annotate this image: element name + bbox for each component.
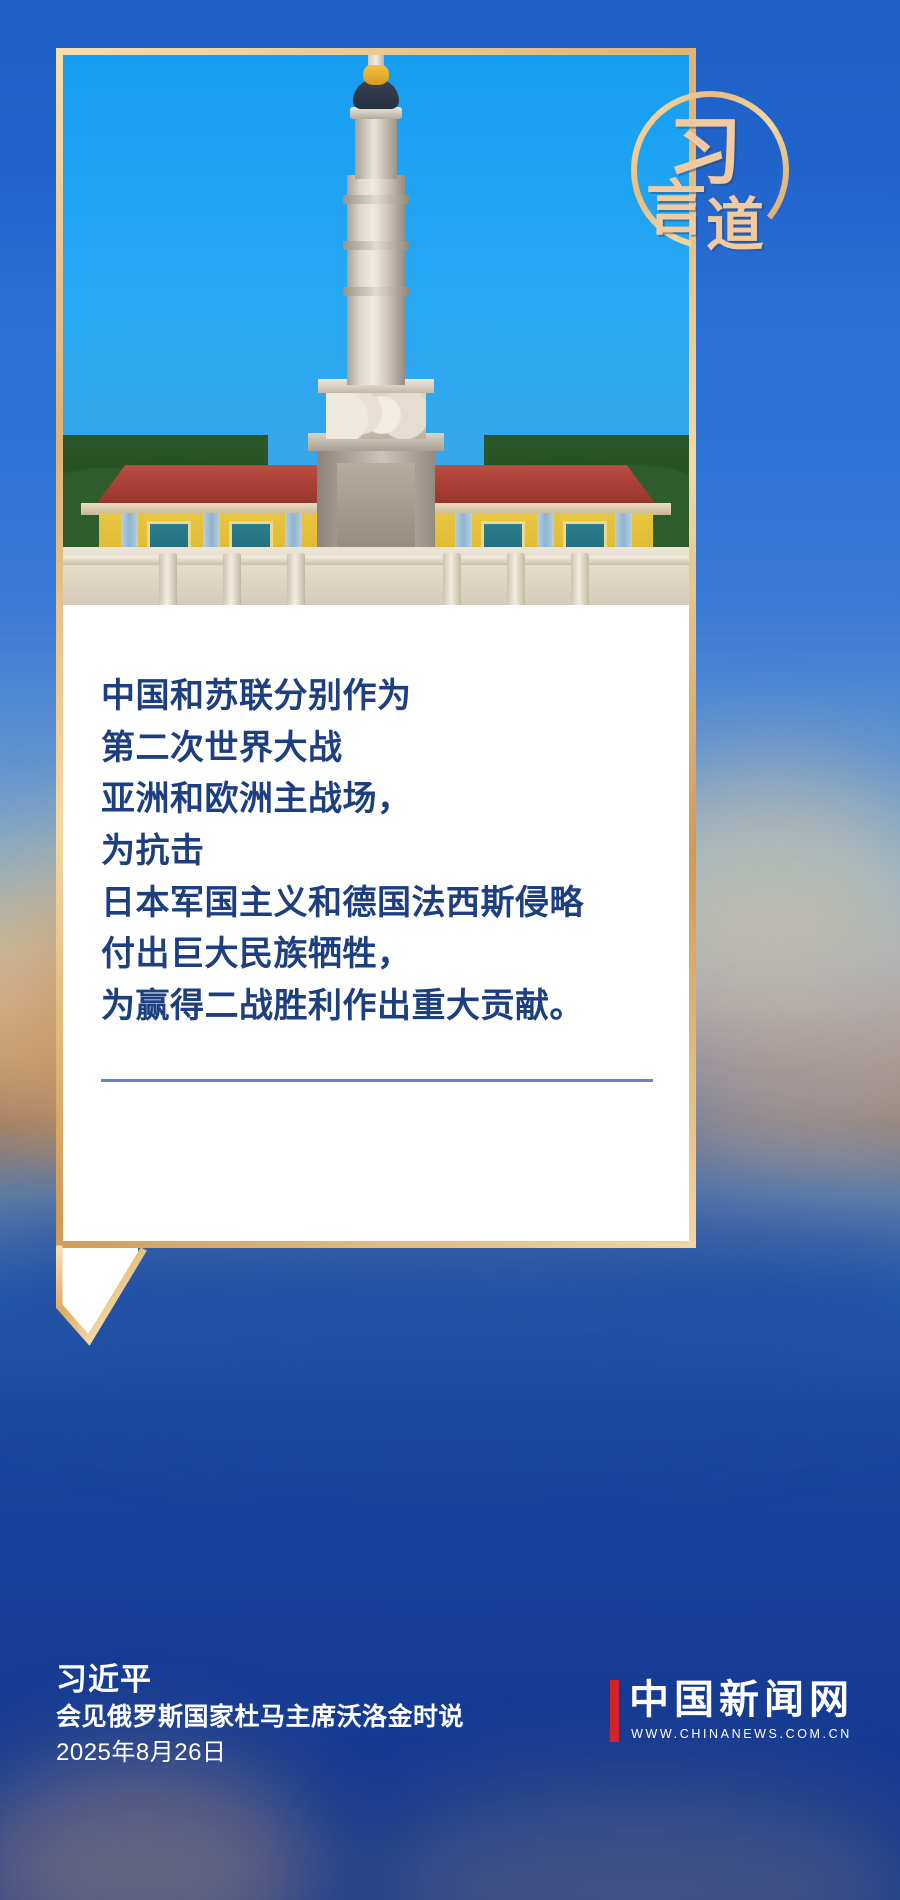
photo-flag-pole: [368, 55, 384, 65]
speech-bubble-tail-outline: [56, 1244, 166, 1350]
seal-char-dao: 道: [706, 178, 764, 262]
quote-line: 中国和苏联分别作为: [101, 671, 655, 723]
quote-text-block: 中国和苏联分别作为 第二次世界大战 亚洲和欧洲主战场， 为抗击 日本军国主义和德…: [63, 605, 689, 1241]
quote-line: 付出巨大民族牺牲，: [101, 929, 655, 981]
photo-monument-shaft: [347, 175, 405, 385]
quote-line: 为赢得二战胜利作出重大贡献。: [101, 981, 655, 1033]
seal-char-yan: 言: [646, 160, 706, 247]
photo-shaft-band: [343, 195, 409, 204]
xi-yan-dao-seal-logo: 习 言 道: [624, 82, 796, 258]
card-inner: 中国和苏联分别作为 第二次世界大战 亚洲和欧洲主战场， 为抗击 日本军国主义和德…: [63, 55, 689, 1241]
background-blur-shape: [0, 1760, 320, 1900]
chinanews-red-mark-icon: [610, 1680, 619, 1742]
photo-balustrade-post: [507, 553, 525, 605]
photo-monument-upper-shaft: [355, 115, 397, 179]
quote-card: 中国和苏联分别作为 第二次世界大战 亚洲和欧洲主战场， 为抗击 日本军国主义和德…: [56, 48, 696, 1248]
quote-line: 为抗击: [101, 826, 655, 878]
monument-photo: [63, 55, 689, 605]
photo-balustrade-post: [287, 553, 305, 605]
quote-line: 日本军国主义和德国法西斯侵略: [101, 878, 655, 930]
poster-root: 中国和苏联分别作为 第二次世界大战 亚洲和欧洲主战场， 为抗击 日本军国主义和德…: [0, 0, 900, 1900]
chinanews-logo: 中国新闻网 WWW.CHINANEWS.COM.CN: [610, 1678, 854, 1742]
background-blur-shape: [360, 1790, 900, 1900]
quote-divider: [101, 1079, 653, 1082]
publisher-name: 中国新闻网: [629, 1678, 854, 1723]
photo-shaft-band: [343, 241, 409, 250]
photo-monument-figures: [326, 391, 426, 439]
quote-line: 亚洲和欧洲主战场，: [101, 774, 655, 826]
photo-shaft-band: [343, 287, 409, 296]
photo-balustrade-post: [159, 553, 177, 605]
photo-balustrade-post: [443, 553, 461, 605]
photo-balustrade-rail: [63, 556, 689, 565]
publisher-url: WWW.CHINANEWS.COM.CN: [631, 1727, 852, 1741]
photo-balustrade-post: [571, 553, 589, 605]
quote-line: 第二次世界大战: [101, 723, 655, 775]
photo-balustrade-post: [223, 553, 241, 605]
photo-monument-torch-flame: [363, 63, 389, 85]
